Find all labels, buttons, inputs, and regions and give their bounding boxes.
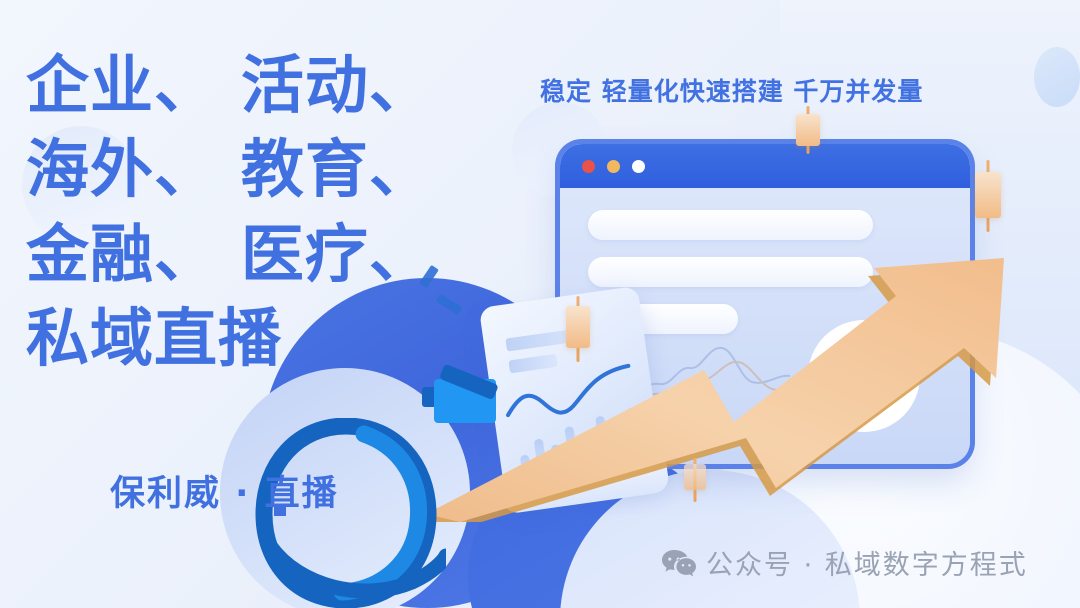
wechat-icon (662, 549, 696, 577)
brand-name: 保利威 · 直播 (110, 465, 339, 516)
candlestick-right-icon (975, 160, 1001, 232)
wechat-account-label: 公众号 · 私域数字方程式 (706, 543, 1028, 582)
candle-body (566, 306, 590, 348)
minimize-dot-icon (607, 160, 620, 173)
maximize-dot-icon (632, 160, 645, 173)
brand-lockup: 保利威 · 直播 (110, 465, 339, 516)
wechat-footer: 公众号 · 私域数字方程式 (662, 543, 1028, 582)
candlestick-left-icon (566, 296, 590, 362)
candlestick-top-icon (796, 106, 820, 154)
close-dot-icon (582, 160, 595, 173)
background-ball-top-right (1034, 47, 1080, 107)
banner-canvas: 企业、 活动、 海外、 教育、 金融、 医疗、 私域直播 稳定 轻量化快速搭建 … (0, 0, 1080, 608)
window-title-bar (560, 144, 970, 188)
candle-body (684, 464, 706, 490)
tagline: 稳定 轻量化快速搭建 千万并发量 (540, 72, 923, 108)
video-camera-icon (416, 365, 512, 440)
candle-body (975, 172, 1001, 218)
candle-body (796, 114, 820, 146)
headline-line-1: 企业、 活动、 (26, 44, 496, 128)
field-row-1 (588, 210, 873, 240)
headline-line-2: 海外、 教育、 (26, 128, 496, 212)
candlestick-bottom-icon (684, 458, 706, 502)
